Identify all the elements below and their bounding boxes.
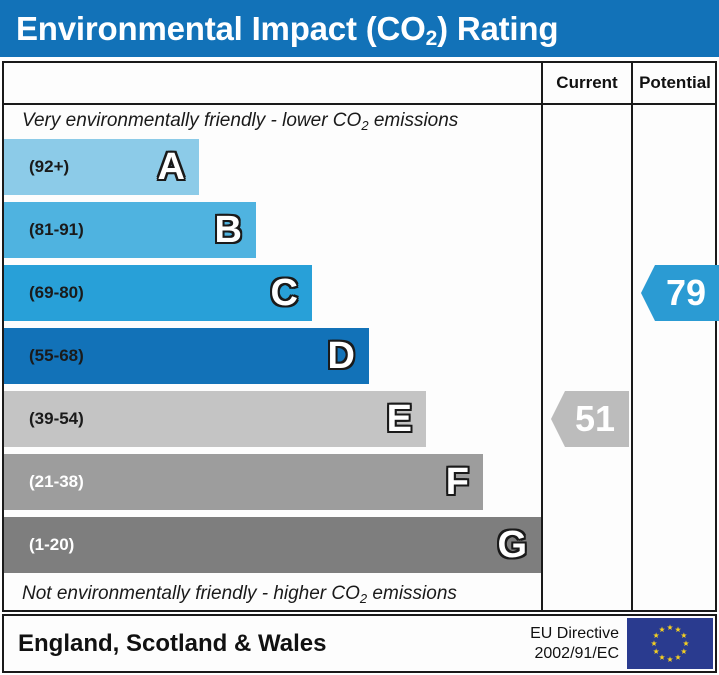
- band-letter-e: E: [387, 400, 412, 438]
- band-letter-d: D: [328, 337, 355, 375]
- band-bar-c: (69-80)C: [4, 265, 312, 321]
- potential-rating-value: 79: [656, 275, 706, 311]
- band-range-c: (69-80): [29, 283, 84, 303]
- band-letter-c: C: [271, 274, 298, 312]
- band-range-e: (39-54): [29, 409, 84, 429]
- caption-bottom-prefix: Not environmentally friendly - higher CO: [22, 583, 360, 604]
- page-title: Environmental Impact (CO2) Rating: [16, 10, 558, 48]
- footer-directive: EU Directive 2002/91/EC: [530, 624, 619, 664]
- current-rating-arrow: 51: [551, 391, 629, 447]
- band-row-f: (21-38)F: [4, 454, 483, 510]
- band-row-d: (55-68)D: [4, 328, 369, 384]
- band-range-d: (55-68): [29, 346, 84, 366]
- column-header-current: Current: [543, 63, 631, 103]
- band-bar-b: (81-91)B: [4, 202, 256, 258]
- band-letter-g: G: [497, 526, 527, 564]
- title-subscript: 2: [426, 27, 437, 50]
- caption-bottom: Not environmentally friendly - higher CO…: [22, 583, 457, 605]
- column-header-potential: Potential: [633, 63, 717, 103]
- footer-directive-line2: 2002/91/EC: [530, 644, 619, 664]
- eu-flag-icon: [627, 618, 713, 669]
- epc-environmental-impact-chart: Environmental Impact (CO2) Rating Curren…: [0, 0, 719, 675]
- caption-top-prefix: Very environmentally friendly - lower CO: [22, 110, 361, 131]
- rating-bands: (92+)A(81-91)B(69-80)C(55-68)D(39-54)E(2…: [4, 139, 541, 579]
- title-suffix: ) Rating: [437, 10, 558, 47]
- rating-table: Current Potential Very environmentally f…: [2, 61, 717, 612]
- band-range-f: (21-38): [29, 472, 84, 492]
- band-range-a: (92+): [29, 157, 69, 177]
- band-letter-b: B: [215, 211, 242, 249]
- current-rating-value: 51: [565, 401, 615, 437]
- band-row-b: (81-91)B: [4, 202, 256, 258]
- caption-bottom-subscript: 2: [360, 591, 367, 606]
- band-range-b: (81-91): [29, 220, 84, 240]
- header-rule: [4, 103, 715, 105]
- title-prefix: Environmental Impact (CO: [16, 10, 426, 47]
- footer-bar: England, Scotland & Wales EU Directive 2…: [2, 614, 717, 673]
- caption-top: Very environmentally friendly - lower CO…: [22, 110, 458, 132]
- caption-bottom-suffix: emissions: [367, 583, 457, 604]
- band-row-g: (1-20)G: [4, 517, 541, 573]
- caption-top-subscript: 2: [361, 118, 368, 133]
- band-range-g: (1-20): [29, 535, 74, 555]
- column-divider-current: [541, 63, 543, 610]
- column-divider-potential: [631, 63, 633, 610]
- band-row-a: (92+)A: [4, 139, 199, 195]
- band-row-c: (69-80)C: [4, 265, 312, 321]
- footer-directive-line1: EU Directive: [530, 624, 619, 644]
- title-bar: Environmental Impact (CO2) Rating: [0, 0, 719, 57]
- band-row-e: (39-54)E: [4, 391, 426, 447]
- band-bar-d: (55-68)D: [4, 328, 369, 384]
- band-bar-g: (1-20)G: [4, 517, 541, 573]
- band-letter-a: A: [158, 148, 185, 186]
- footer-region-label: England, Scotland & Wales: [18, 630, 326, 658]
- band-bar-f: (21-38)F: [4, 454, 483, 510]
- band-bar-e: (39-54)E: [4, 391, 426, 447]
- potential-rating-arrow: 79: [641, 265, 719, 321]
- caption-top-suffix: emissions: [369, 110, 459, 131]
- band-bar-a: (92+)A: [4, 139, 199, 195]
- band-letter-f: F: [446, 463, 469, 501]
